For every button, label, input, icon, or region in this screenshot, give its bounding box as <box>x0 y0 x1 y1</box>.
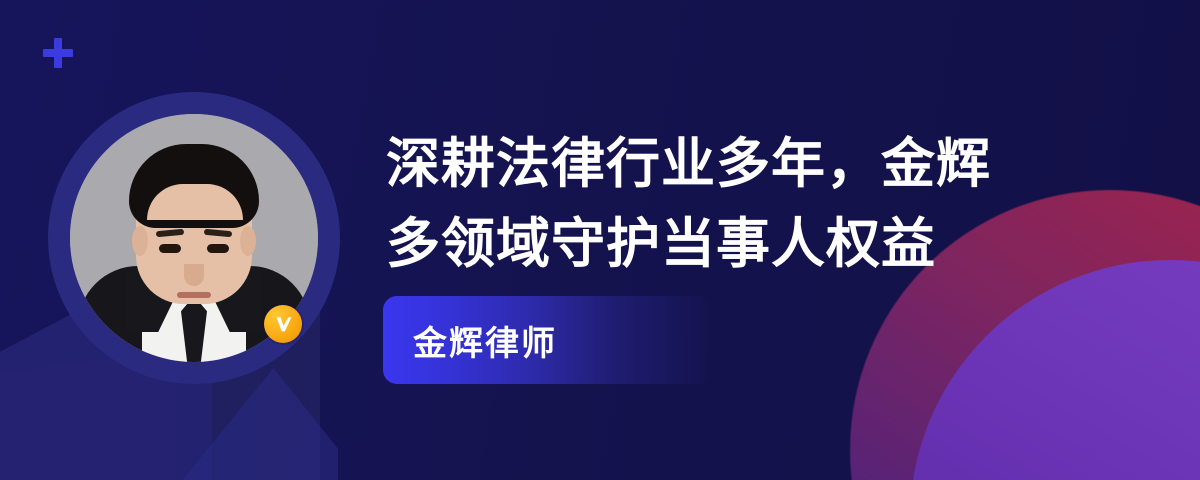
plus-icon <box>43 38 73 68</box>
verified-badge-icon <box>264 305 302 343</box>
portrait-nose <box>184 264 204 286</box>
portrait-mouth <box>177 292 211 298</box>
portrait-ear-left <box>132 226 148 256</box>
page-title: 深耕法律行业多年，金辉 多领域守护当事人权益 <box>386 124 1086 284</box>
lawyer-name-badge: 金辉律师 <box>383 296 713 384</box>
portrait-eye-right <box>207 244 229 253</box>
portrait-ear-right <box>240 226 256 256</box>
portrait-eye-left <box>159 244 181 253</box>
avatar <box>48 92 340 384</box>
lawyer-name-label: 金辉律师 <box>413 316 557 365</box>
promo-banner: 深耕法律行业多年，金辉 多领域守护当事人权益 金辉律师 <box>0 0 1200 480</box>
headline-line-1: 深耕法律行业多年，金辉 <box>386 124 1086 204</box>
headline-line-2: 多领域守护当事人权益 <box>386 204 1086 284</box>
